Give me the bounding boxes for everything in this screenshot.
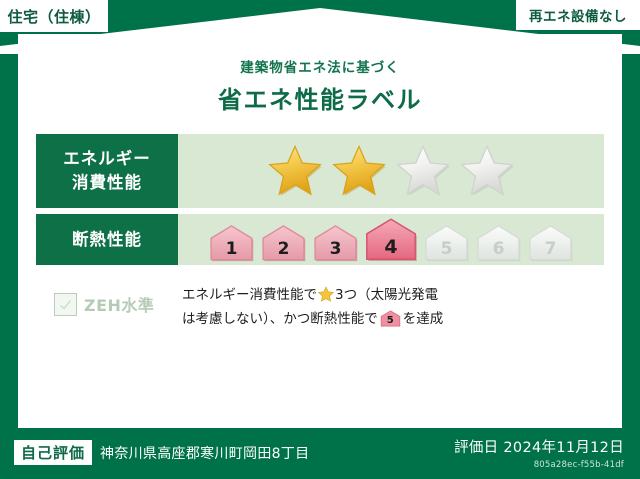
note-line-2: は考慮しない）、かつ断熱性能で5を達成 <box>182 308 604 332</box>
inline-house-badge: 5 <box>380 310 401 327</box>
evaluation-type-badge: 自己評価 <box>14 440 92 465</box>
star-filled-icon <box>331 144 387 198</box>
insulation-level-number: 1 <box>208 241 255 258</box>
insulation-level-4: 4 <box>364 217 418 262</box>
title-block: 建築物省エネ法に基づく 省エネ性能ラベル <box>18 56 622 115</box>
checkmark-icon <box>58 297 73 312</box>
label-title: 省エネ性能ラベル <box>18 80 622 115</box>
star-empty-icon <box>459 144 515 198</box>
note-line2-prefix: は考慮しない）、かつ断熱性能で <box>182 311 378 327</box>
star-rating <box>267 144 515 198</box>
label-card: 建築物省エネ法に基づく 省エネ性能ラベル エネルギー 消費性能 断熱性能 <box>18 34 622 428</box>
note-line-1: エネルギー消費性能で3つ（太陽光発電 <box>182 284 604 308</box>
insulation-level-2: 2 <box>260 224 307 262</box>
energy-label-line1: エネルギー <box>63 147 151 171</box>
insulation-level-5: 5 <box>423 224 470 262</box>
zeh-standard-indicator: ZEH水準 <box>36 278 182 316</box>
insulation-level-6: 6 <box>475 224 522 262</box>
energy-label-line2: 消費性能 <box>72 171 142 195</box>
insulation-performance-row: 断熱性能 1234567 <box>36 214 604 265</box>
footer-bar: 自己評価 神奈川県高座郡寒川町岡田8丁目 評価日 2024年11月12日 805… <box>0 428 640 479</box>
insulation-performance-label: 断熱性能 <box>36 214 178 265</box>
achievement-note: エネルギー消費性能で3つ（太陽光発電 は考慮しない）、かつ断熱性能で5を達成 <box>182 278 604 331</box>
zeh-checkbox-icon <box>54 293 77 316</box>
energy-performance-row: エネルギー 消費性能 <box>36 134 604 208</box>
insulation-level-number: 5 <box>423 241 470 258</box>
rating-rows: エネルギー 消費性能 断熱性能 1234567 <box>36 134 604 271</box>
insulation-level-1: 1 <box>208 224 255 262</box>
inline-star-icon <box>318 286 334 302</box>
energy-label-root: 住宅（住棟） 再エネ設備なし 建築物省エネ法に基づく 省エネ性能ラベル エネルギ… <box>0 0 640 479</box>
renewable-energy-tag: 再エネ設備なし <box>516 0 640 30</box>
insulation-level-number: 3 <box>312 241 359 258</box>
insulation-level-number: 4 <box>364 238 418 257</box>
footer-left: 自己評価 神奈川県高座郡寒川町岡田8丁目 <box>14 440 309 465</box>
star-filled-icon <box>267 144 323 198</box>
insulation-label-text: 断熱性能 <box>72 228 142 252</box>
insulation-level-number: 2 <box>260 241 307 258</box>
property-address: 神奈川県高座郡寒川町岡田8丁目 <box>100 443 309 463</box>
energy-performance-label: エネルギー 消費性能 <box>36 134 178 208</box>
star-empty-icon <box>395 144 451 198</box>
insulation-level-scale: 1234567 <box>208 217 574 262</box>
note-line1-suffix: 3つ（太陽光発電 <box>335 287 438 303</box>
document-id: 805a28ec-f55b-41df <box>454 460 624 470</box>
evaluation-date: 評価日 2024年11月12日 <box>454 436 624 457</box>
insulation-level-number: 6 <box>475 241 522 258</box>
insulation-performance-value: 1234567 <box>178 214 604 265</box>
footer-right: 評価日 2024年11月12日 805a28ec-f55b-41df <box>454 436 624 470</box>
note-section: ZEH水準 エネルギー消費性能で3つ（太陽光発電 は考慮しない）、かつ断熱性能で… <box>36 278 604 331</box>
zeh-label: ZEH水準 <box>84 292 154 316</box>
note-line1-prefix: エネルギー消費性能で <box>182 287 317 303</box>
insulation-level-7: 7 <box>527 224 574 262</box>
note-line2-suffix: を達成 <box>403 311 444 327</box>
label-subtitle: 建築物省エネ法に基づく <box>18 56 622 76</box>
energy-performance-value <box>178 134 604 208</box>
inline-house-number: 5 <box>380 316 401 326</box>
building-type-tag: 住宅（住棟） <box>0 0 108 32</box>
insulation-level-3: 3 <box>312 224 359 262</box>
insulation-level-number: 7 <box>527 241 574 258</box>
